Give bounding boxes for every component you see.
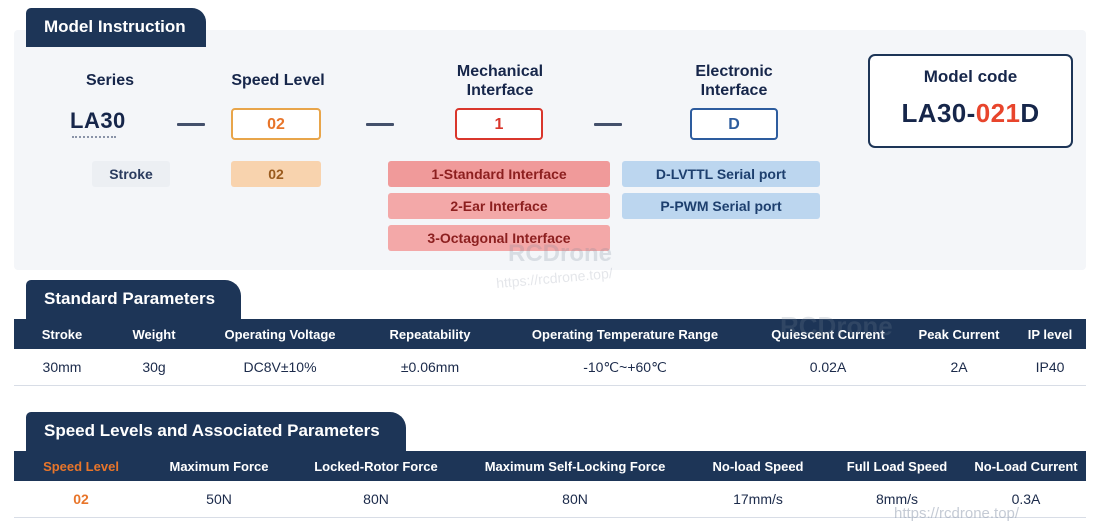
standard-parameters-table: Stroke Weight Operating Voltage Repeatab… [14, 319, 1086, 386]
th-maximum-self-locking-force: Maximum Self-Locking Force [462, 451, 688, 481]
standard-parameters-tab-label: Standard Parameters [26, 280, 241, 319]
model-code-title: Model code [870, 67, 1071, 87]
td-no-load-speed: 17mm/s [688, 481, 828, 518]
table-header-row: Speed Level Maximum Force Locked-Rotor F… [14, 451, 1086, 481]
td-stroke: 30mm [14, 349, 110, 386]
model-code-value: LA30-021D [870, 98, 1071, 129]
mechanical-interface-value-box[interactable]: 1 [455, 108, 543, 140]
td-repeatability: ±0.06mm [362, 349, 498, 386]
td-quiescent-current: 0.02A [752, 349, 904, 386]
td-speed-level: 02 [14, 481, 148, 518]
th-no-load-current: No-Load Current [966, 451, 1086, 481]
th-weight: Weight [110, 319, 198, 349]
td-operating-voltage: DC8V±10% [198, 349, 362, 386]
separator-dash-1 [177, 123, 205, 126]
table-row: 30mm 30g DC8V±10% ±0.06mm -10℃~+60℃ 0.02… [14, 349, 1086, 386]
td-full-load-speed: 8mm/s [828, 481, 966, 518]
th-peak-current: Peak Current [904, 319, 1014, 349]
mechanical-option-3[interactable]: 3-Octagonal Interface [388, 225, 610, 251]
th-maximum-force: Maximum Force [148, 451, 290, 481]
standard-parameters-section: Standard Parameters Stroke Weight Operat… [14, 280, 1086, 386]
mechanical-option-2[interactable]: 2-Ear Interface [388, 193, 610, 219]
separator-dash-2 [366, 123, 394, 126]
td-weight: 30g [110, 349, 198, 386]
th-operating-voltage: Operating Voltage [198, 319, 362, 349]
column-title-electronic-interface: ElectronicInterface [654, 62, 814, 100]
th-locked-rotor-force: Locked-Rotor Force [290, 451, 462, 481]
column-title-mechanical-interface: MechanicalInterface [418, 62, 582, 100]
th-quiescent-current: Quiescent Current [752, 319, 904, 349]
th-operating-temperature-range: Operating Temperature Range [498, 319, 752, 349]
electronic-option-1[interactable]: D-LVTTL Serial port [622, 161, 820, 187]
td-operating-temperature-range: -10℃~+60℃ [498, 349, 752, 386]
table-row: 02 50N 80N 80N 17mm/s 8mm/s 0.3A [14, 481, 1086, 518]
speed-level-value-box[interactable]: 02 [231, 108, 321, 140]
speed-levels-table-wrap: Speed Level Maximum Force Locked-Rotor F… [14, 451, 1086, 518]
td-peak-current: 2A [904, 349, 1014, 386]
electronic-option-2[interactable]: P-PWM Serial port [622, 193, 820, 219]
standard-parameters-table-wrap: Stroke Weight Operating Voltage Repeatab… [14, 319, 1086, 386]
model-code-prefix: LA30- [901, 98, 975, 128]
model-code-accent: 021 [976, 98, 1021, 128]
series-sub-tag-stroke: Stroke [92, 161, 170, 187]
th-speed-level: Speed Level [14, 451, 148, 481]
speed-levels-tab-label: Speed Levels and Associated Parameters [26, 412, 406, 451]
table-header-row: Stroke Weight Operating Voltage Repeatab… [14, 319, 1086, 349]
series-underline [72, 136, 116, 138]
column-title-speed-level: Speed Level [200, 71, 356, 90]
th-no-load-speed: No-load Speed [688, 451, 828, 481]
series-value: LA30 [70, 108, 126, 134]
th-stroke: Stroke [14, 319, 110, 349]
speed-levels-section: Speed Levels and Associated Parameters S… [14, 412, 1086, 518]
td-locked-rotor-force: 80N [290, 481, 462, 518]
model-instruction-tab-label: Model Instruction [26, 8, 206, 47]
electronic-interface-value-box[interactable]: D [690, 108, 778, 140]
td-maximum-force: 50N [148, 481, 290, 518]
mechanical-option-1[interactable]: 1-Standard Interface [388, 161, 610, 187]
model-code-suffix: D [1020, 98, 1039, 128]
speed-level-sub-tag: 02 [231, 161, 321, 187]
separator-dash-3 [594, 123, 622, 126]
th-repeatability: Repeatability [362, 319, 498, 349]
td-no-load-current: 0.3A [966, 481, 1086, 518]
model-instruction-section: Model Instruction Series LA30 Stroke Spe… [14, 8, 1086, 270]
speed-levels-table: Speed Level Maximum Force Locked-Rotor F… [14, 451, 1086, 518]
model-code-card: Model code LA30-021D [868, 54, 1073, 148]
td-ip-level: IP40 [1014, 349, 1086, 386]
column-title-series: Series [50, 71, 170, 90]
th-ip-level: IP level [1014, 319, 1086, 349]
td-maximum-self-locking-force: 80N [462, 481, 688, 518]
th-full-load-speed: Full Load Speed [828, 451, 966, 481]
